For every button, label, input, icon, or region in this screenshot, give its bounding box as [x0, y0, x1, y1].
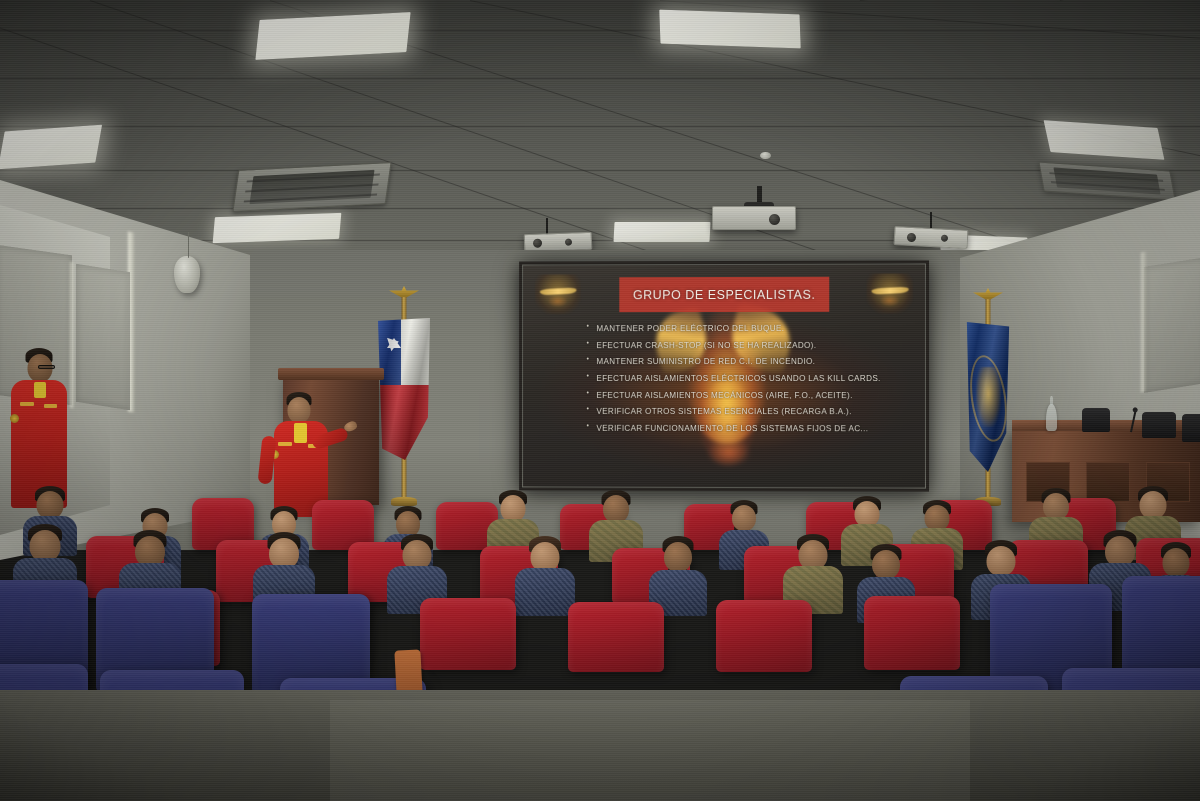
ceiling-light-panel [613, 222, 710, 242]
window-blind-left-2 [76, 264, 130, 411]
lectern-top [278, 368, 384, 380]
presenter-red-coveralls [262, 392, 340, 517]
slide-title-bar: GRUPO DE ESPECIALISTAS. [619, 277, 829, 312]
presenter-head [288, 397, 311, 423]
projector-right [894, 226, 969, 249]
assistant-red-coveralls [6, 348, 72, 508]
seat[interactable] [420, 598, 516, 670]
window-light-leak [1141, 252, 1146, 393]
ceiling-tile-grid [0, 0, 1200, 270]
assistant-glasses-icon [38, 365, 55, 369]
flame-graphic [707, 438, 751, 467]
assistant-chest-patch [44, 404, 57, 408]
ceiling-light-panel [0, 125, 102, 170]
ceiling-light-panel [213, 213, 342, 243]
assistant-shoulder-patch [10, 414, 19, 423]
ceiling [0, 0, 1200, 270]
presenter-chest-patch [278, 442, 292, 446]
floor-aisle [330, 700, 970, 801]
flag-emblem-icon [976, 367, 1002, 427]
slide-bullet: VERIFICAR OTROS SISTEMAS ESENCIALES (REC… [585, 406, 885, 418]
navy-flag-assembly [956, 288, 1020, 510]
slide-bullet: MANTENER SUMINISTRO DE RED C.I. DE INCEN… [585, 356, 885, 368]
naval-crest-logo-icon [535, 274, 581, 314]
naval-crest-logo-icon [866, 274, 912, 314]
projection-screen[interactable]: GRUPO DE ESPECIALISTAS. MANTENER PODER E… [523, 264, 925, 487]
head-table-chair [1182, 414, 1200, 442]
assistant-inner-shirt [34, 382, 46, 398]
assistant-chest-patch [20, 402, 34, 406]
seat[interactable] [864, 596, 960, 670]
seat[interactable] [568, 602, 664, 672]
ceiling-light-panel [255, 12, 410, 60]
water-carafe [1046, 404, 1057, 431]
wall-speaker [174, 256, 200, 293]
auditorium-scene: GRUPO DE ESPECIALISTAS. MANTENER PODER E… [0, 0, 1200, 801]
projector-center [712, 206, 796, 230]
head-table-chair [1142, 412, 1176, 438]
slide-bullet: EFECTUAR AISLAMIENTOS ELÉCTRICOS USANDO … [585, 373, 885, 385]
ceiling-light-panel [659, 10, 800, 49]
flag-pole-base [391, 497, 417, 506]
slide-bullet: EFECTUAR CRASH-STOP (SI NO SE HA REALIZA… [585, 340, 885, 352]
slide-title: GRUPO DE ESPECIALISTAS. [633, 287, 816, 301]
chile-flag [378, 318, 430, 460]
navy-ceremonial-flag [964, 322, 1012, 472]
ac-vent [232, 162, 391, 212]
slide-bullet: MANTENER PODER ELÉCTRICO DEL BUQUE. [585, 323, 885, 335]
window-blind-right [1144, 257, 1200, 393]
presenter-inner-shirt [294, 423, 307, 443]
chile-flag-assembly [372, 286, 436, 508]
speaker-cable [188, 232, 189, 258]
head-table-chair [1082, 408, 1110, 432]
slide-bullet-list: MANTENER PODER ELÉCTRICO DEL BUQUE. EFEC… [585, 323, 885, 440]
slide-bullet: VERIFICAR FUNCIONAMIENTO DE LOS SISTEMAS… [585, 423, 885, 435]
seat[interactable] [716, 600, 812, 672]
smoke-detector [760, 152, 771, 159]
slide-bullet: EFECTUAR AISLAMIENTOS MECÁNICOS (AIRE, F… [585, 390, 885, 402]
